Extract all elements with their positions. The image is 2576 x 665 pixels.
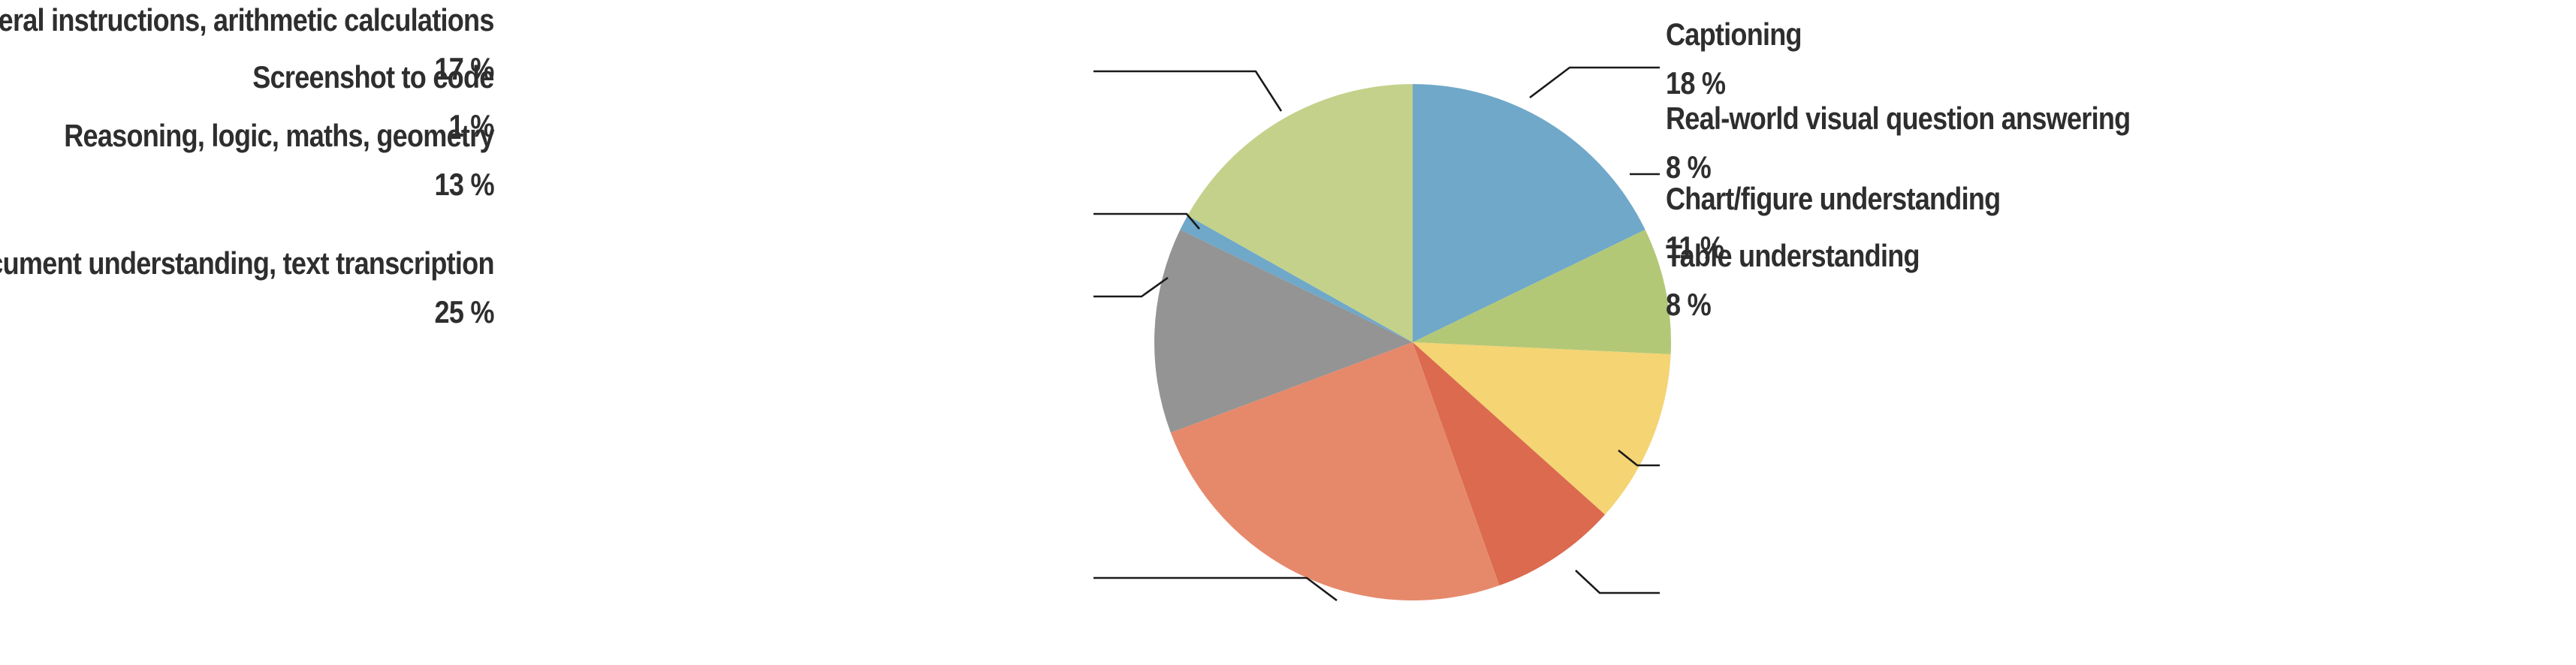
slice-label-name: Text-only general instructions, arithmet…: [0, 5, 494, 37]
slice-label-name: Table understanding: [1666, 240, 1920, 272]
slice-label-name: Chart/figure understanding: [1666, 183, 2000, 215]
slice-label-percent: 18 %: [1666, 68, 1802, 100]
slice-label-captioning[interactable]: Captioning 18 %: [1666, 19, 1802, 100]
slice-label-name: OCR, document understanding, text transc…: [0, 248, 494, 280]
slice-label-percent: 25 %: [0, 296, 494, 329]
leader-line-reasoning: [1093, 278, 1168, 296]
slice-label-real-world-visual-question-answering[interactable]: Real-world visual question answering 8 %: [1666, 103, 2130, 184]
slice-label-percent: 13 %: [64, 169, 494, 201]
leader-line-textonly: [1093, 71, 1281, 111]
slice-label-percent: 8 %: [1666, 152, 2130, 184]
slice-label-reasoning-logic-maths-geometry[interactable]: Reasoning, logic, maths, geometry 13 %: [64, 120, 494, 201]
slice-label-name: Captioning: [1666, 19, 1802, 51]
slice-label-name: Screenshot to code: [253, 62, 494, 94]
leader-line-captioning: [1530, 68, 1660, 98]
pie-chart-figure: Text-only general instructions, arithmet…: [0, 0, 2576, 665]
slice-label-name: Real-world visual question answering: [1666, 103, 2130, 135]
pie-slices-group: [1154, 84, 1671, 600]
leader-line-table: [1576, 570, 1660, 593]
slice-label-ocr-document-understanding[interactable]: OCR, document understanding, text transc…: [0, 248, 494, 329]
slice-label-name: Reasoning, logic, maths, geometry: [64, 120, 494, 152]
slice-label-table-understanding[interactable]: Table understanding 8 %: [1666, 240, 1920, 321]
slice-label-percent: 8 %: [1666, 289, 1920, 321]
leader-line-ocr: [1093, 578, 1337, 600]
